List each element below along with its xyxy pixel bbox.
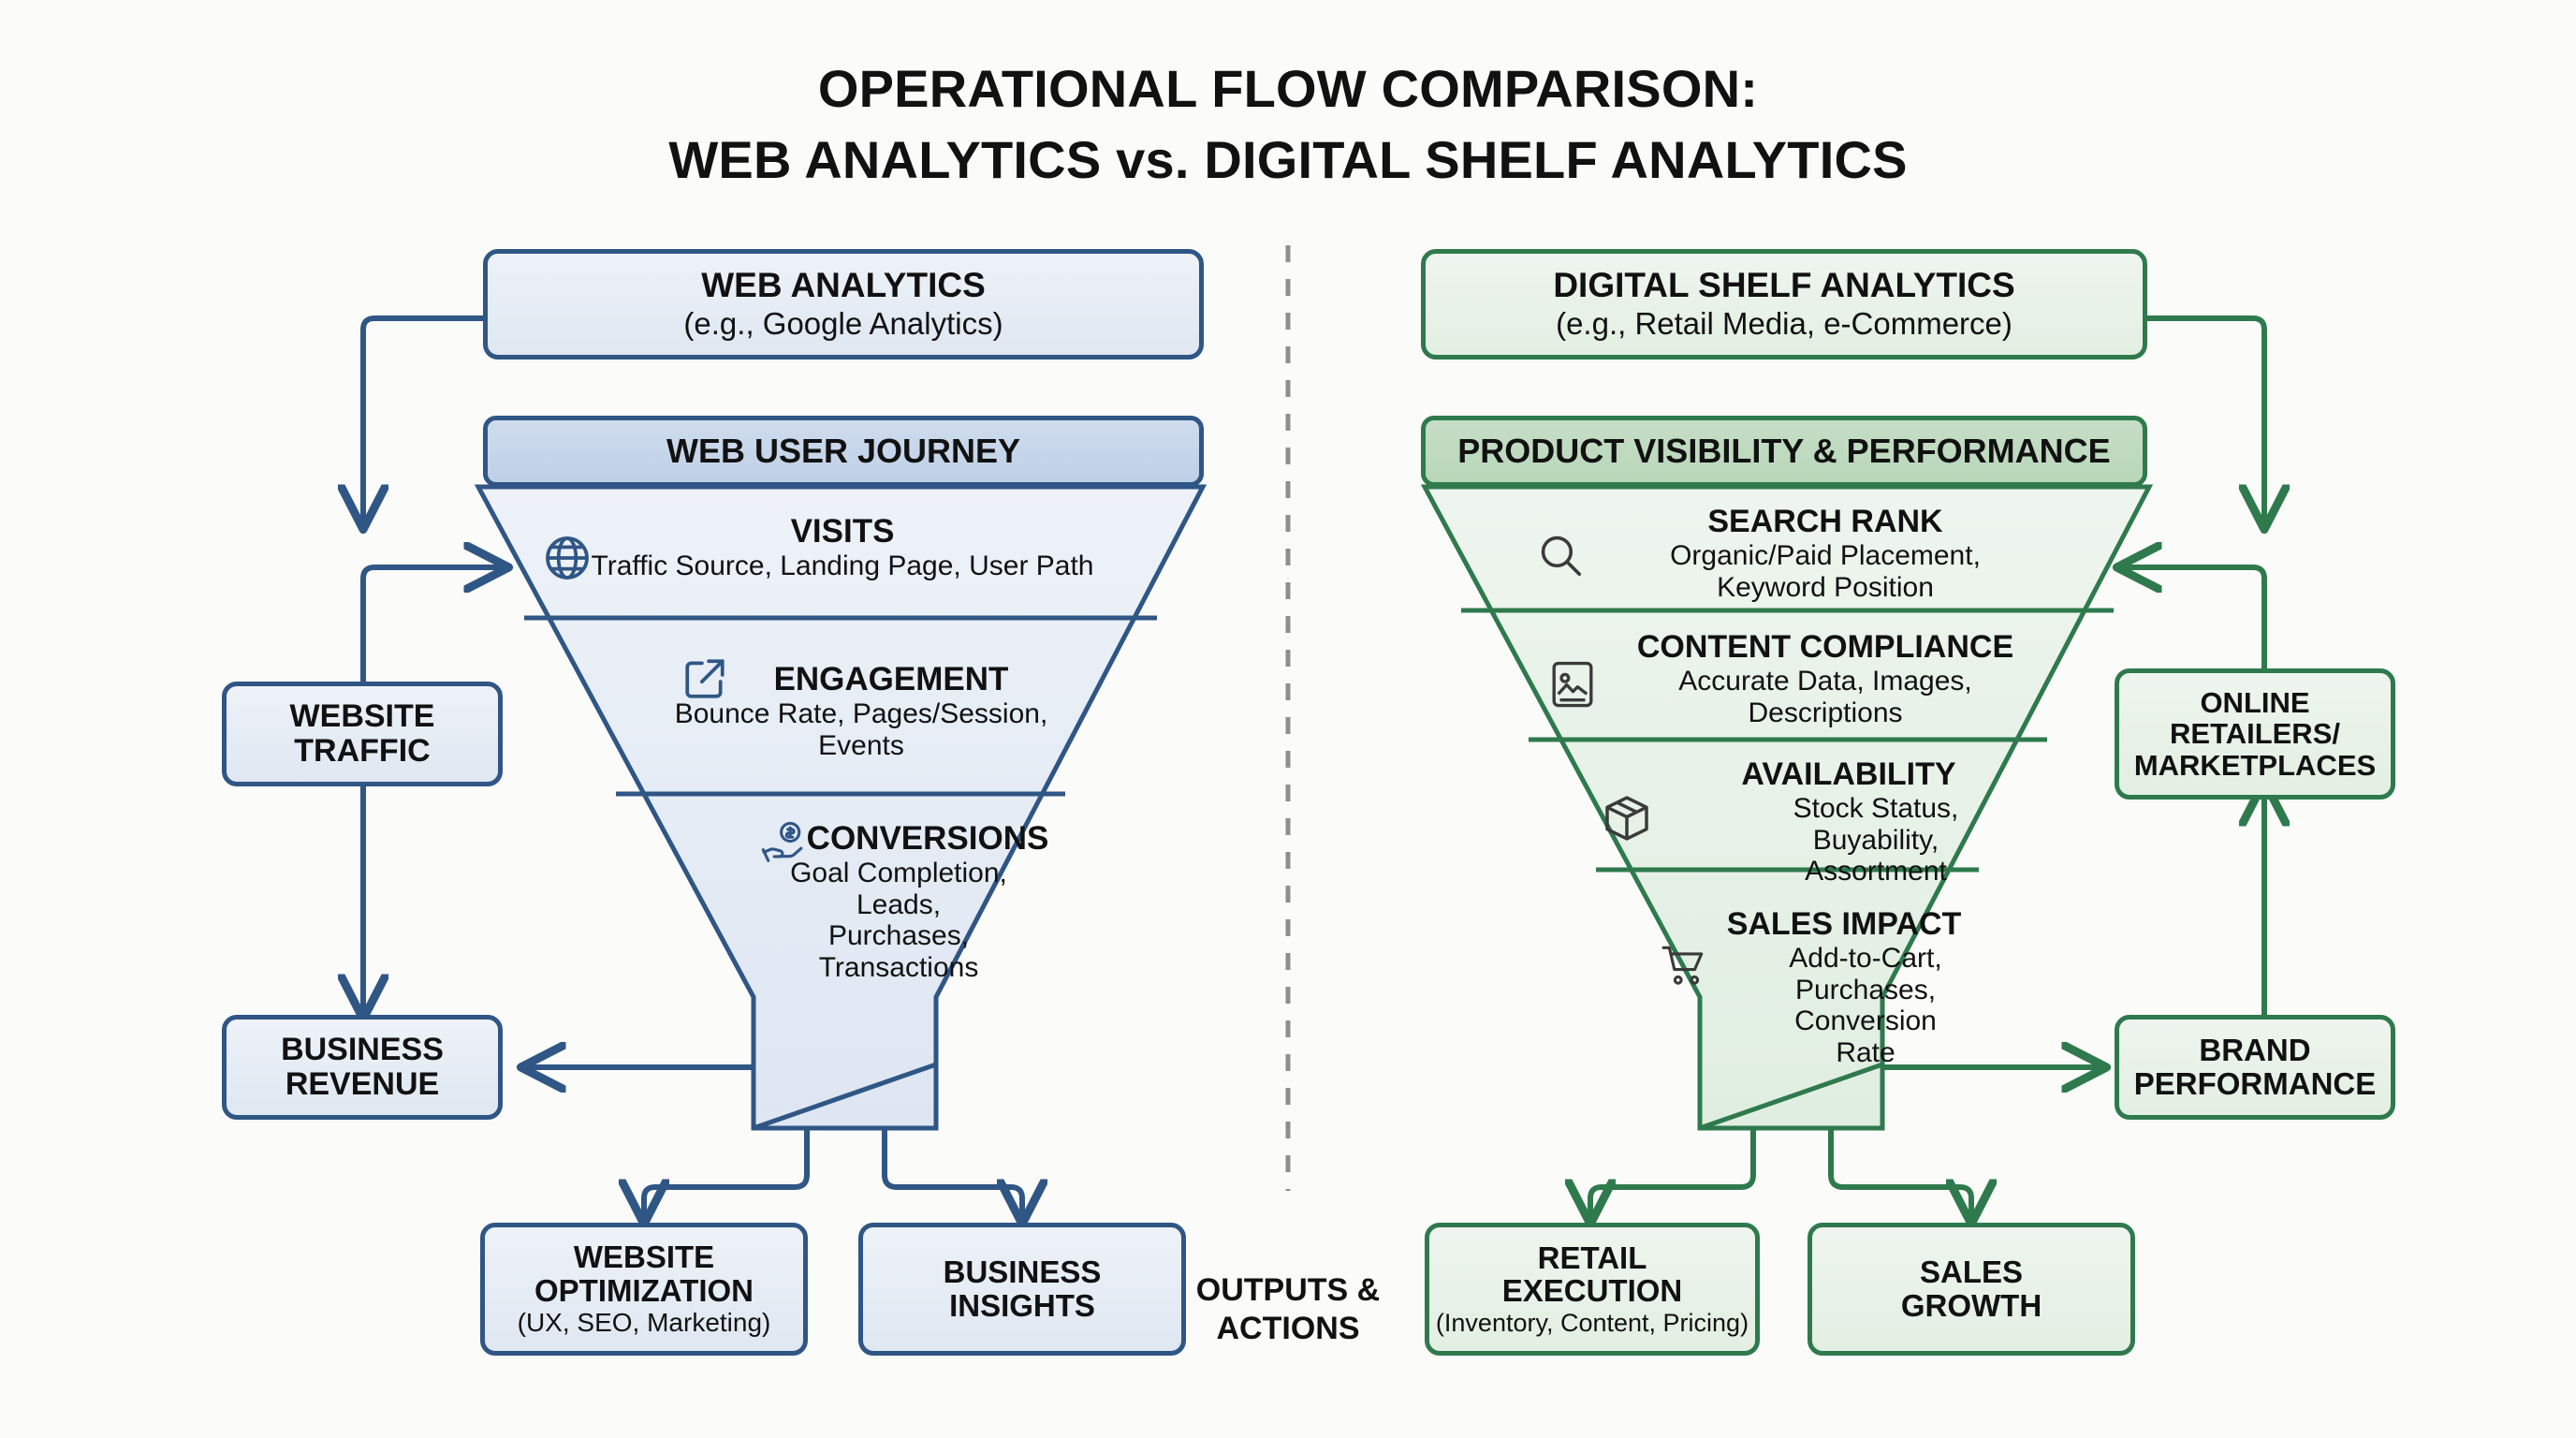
stage-availability: AVAILABILITY Stock Status, Buyability, A… [1671, 756, 2027, 888]
edit-square-icon [681, 655, 728, 707]
globe-icon [541, 532, 593, 589]
magnifier-icon [1535, 530, 1586, 585]
business-revenue-line-2: REVENUE [285, 1067, 439, 1102]
online-retailers-line-1: ONLINE [2200, 687, 2309, 718]
stage-conversions-detail: Goal Completion, Leads, Purchases, Trans… [711, 858, 1086, 983]
website-optimization-line-2: OPTIMIZATION [534, 1274, 754, 1308]
connector-funnel-to-business-insights [885, 1128, 1022, 1221]
connector-funnel-to-website-optimization [644, 1128, 807, 1221]
box-package-icon [1601, 792, 1653, 849]
web-analytics-source-box[interactable]: WEB ANALYTICS (e.g., Google Analytics) [483, 249, 1204, 359]
product-visibility-header[interactable]: PRODUCT VISIBILITY & PERFORMANCE [1421, 416, 2147, 487]
connector-funnel-to-sales-growth [1831, 1128, 1971, 1221]
stage-search-rank-title: SEARCH RANK [1591, 504, 2059, 540]
brand-performance-box[interactable]: BRAND PERFORMANCE [2115, 1015, 2395, 1120]
brand-performance-line-1: BRAND [2199, 1034, 2310, 1067]
business-insights-line-2: INSIGHTS [949, 1289, 1095, 1323]
online-retailers-line-2: RETAILERS/ [2170, 718, 2340, 749]
stage-content-compliance-detail: Accurate Data, Images, Descriptions [1582, 666, 2069, 728]
website-optimization-line-1: WEBSITE [574, 1240, 714, 1274]
web-user-journey-header-label: WEB USER JOURNEY [666, 433, 1020, 470]
stage-availability-title: AVAILABILITY [1671, 756, 2027, 793]
digital-shelf-source-subtitle: (e.g., Retail Media, e-Commerce) [1556, 307, 2012, 341]
web-analytics-source-subtitle: (e.g., Google Analytics) [683, 307, 1003, 341]
website-traffic-line-2: TRAFFIC [294, 734, 430, 769]
website-traffic-box[interactable]: WEBSITE TRAFFIC [222, 682, 503, 786]
stage-sales-impact-detail: Add-to-Cart, Purchases, Conversion Rate [1676, 943, 2012, 1068]
web-user-journey-header[interactable]: WEB USER JOURNEY [483, 416, 1204, 487]
connector-traffic-to-visits [363, 567, 505, 683]
digital-shelf-source-title: DIGITAL SHELF ANALYTICS [1553, 267, 2014, 304]
brand-performance-line-2: PERFORMANCE [2134, 1067, 2377, 1101]
online-retailers-box[interactable]: ONLINE RETAILERS/ MARKETPLACES [2115, 668, 2395, 800]
business-revenue-line-1: BUSINESS [281, 1033, 444, 1067]
sales-growth-output-box[interactable]: SALES GROWTH [1808, 1223, 2135, 1356]
diagram-canvas: OPERATIONAL FLOW COMPARISON: WEB ANALYTI… [0, 0, 2576, 1438]
outputs-label-line-2: ACTIONS [1194, 1310, 1382, 1348]
connector-source-to-traffic [363, 318, 483, 526]
online-retailers-line-3: MARKETPLACES [2134, 750, 2376, 781]
outputs-and-actions-label: OUTPUTS & ACTIONS [1194, 1271, 1382, 1348]
website-optimization-output-box[interactable]: WEBSITE OPTIMIZATION (UX, SEO, Marketing… [480, 1223, 808, 1356]
retail-execution-line-2: EXECUTION [1502, 1274, 1683, 1308]
digital-shelf-source-box[interactable]: DIGITAL SHELF ANALYTICS (e.g., Retail Me… [1421, 249, 2147, 359]
retail-execution-output-box[interactable]: RETAIL EXECUTION (Inventory, Content, Pr… [1425, 1223, 1760, 1356]
product-visibility-header-label: PRODUCT VISIBILITY & PERFORMANCE [1457, 433, 2110, 470]
connector-source-to-retailers [2144, 318, 2264, 526]
retail-execution-line-1: RETAIL [1538, 1241, 1647, 1275]
business-insights-line-1: BUSINESS [944, 1255, 1102, 1289]
business-insights-output-box[interactable]: BUSINESS INSIGHTS [858, 1223, 1186, 1356]
stage-content-compliance: CONTENT COMPLIANCE Accurate Data, Images… [1582, 629, 2069, 728]
stage-search-rank-detail: Organic/Paid Placement, Keyword Position [1591, 540, 2059, 603]
retail-execution-line-3: (Inventory, Content, Pricing) [1436, 1310, 1749, 1338]
web-analytics-source-title: WEB ANALYTICS [701, 267, 986, 304]
outputs-label-line-1: OUTPUTS & [1194, 1271, 1382, 1310]
connector-funnel-to-retail-execution [1590, 1128, 1753, 1221]
business-revenue-box[interactable]: BUSINESS REVENUE [222, 1015, 503, 1120]
stage-sales-impact-title: SALES IMPACT [1676, 906, 2012, 943]
stage-content-compliance-title: CONTENT COMPLIANCE [1582, 629, 2069, 666]
stage-visits-title: VISITS [562, 513, 1123, 550]
website-traffic-line-1: WEBSITE [290, 699, 435, 734]
sales-growth-line-1: SALES [1920, 1255, 2023, 1289]
stage-visits: VISITS Traffic Source, Landing Page, Use… [562, 513, 1123, 582]
stage-search-rank: SEARCH RANK Organic/Paid Placement, Keyw… [1591, 504, 2059, 603]
stage-sales-impact: SALES IMPACT Add-to-Cart, Purchases, Con… [1676, 906, 2012, 1068]
sales-growth-line-2: GROWTH [1901, 1289, 2042, 1323]
stage-engagement-detail: Bounce Rate, Pages/Session, Events [637, 698, 1086, 761]
image-document-icon [1549, 659, 1596, 714]
hand-coin-icon [760, 820, 811, 872]
stage-visits-detail: Traffic Source, Landing Page, User Path [562, 550, 1123, 582]
website-optimization-line-3: (UX, SEO, Marketing) [518, 1309, 771, 1338]
stage-availability-detail: Stock Status, Buyability, Assortment [1671, 793, 2027, 888]
connector-retailers-to-search-rank [2120, 567, 2264, 683]
shopping-cart-icon [1661, 944, 1707, 991]
